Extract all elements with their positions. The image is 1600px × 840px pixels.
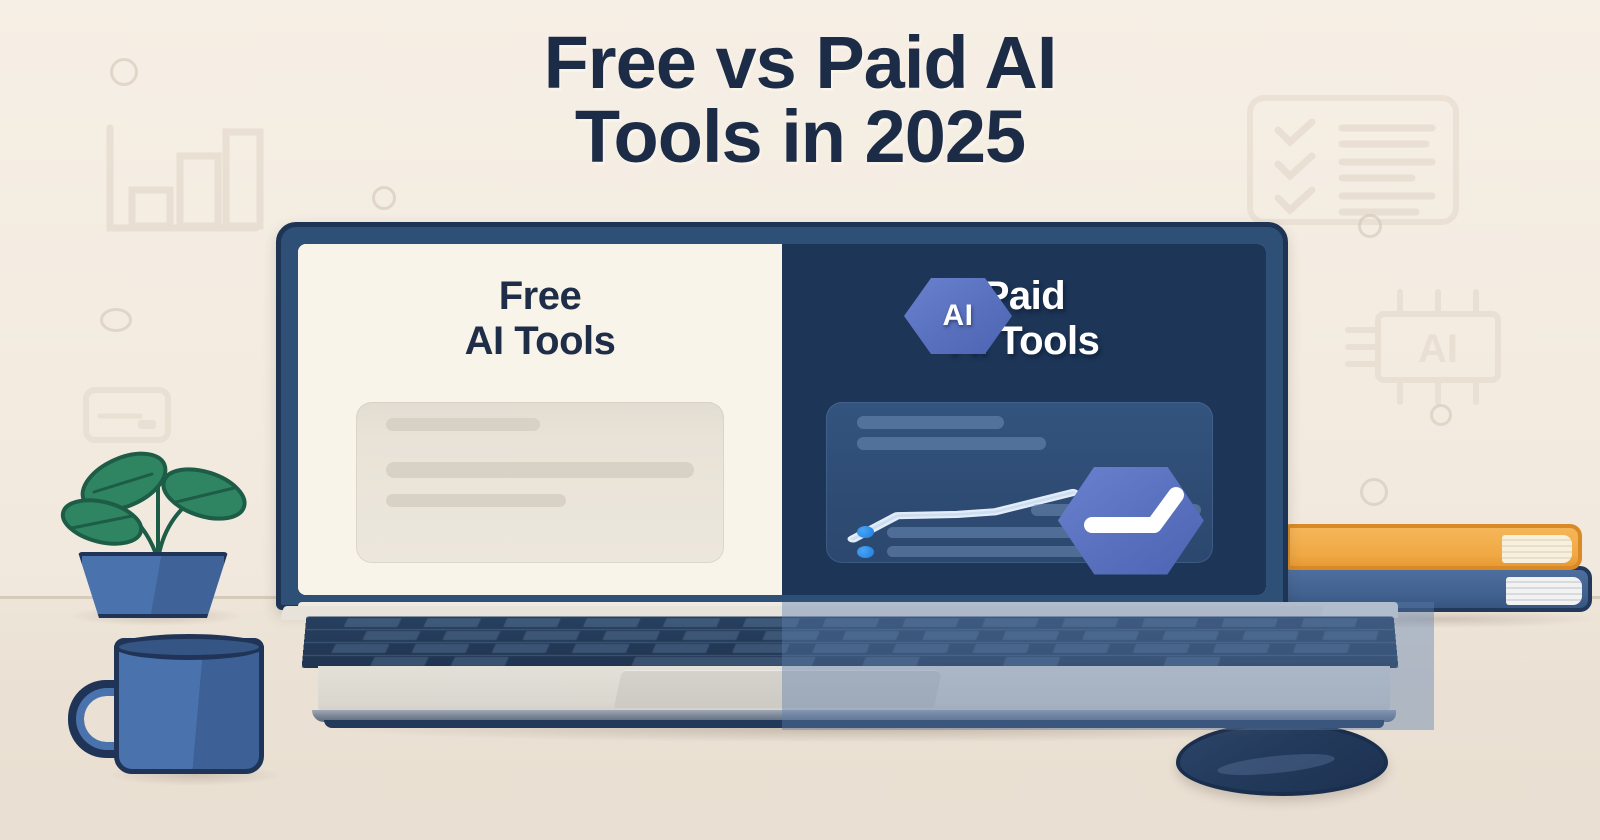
page-title: Free vs Paid AI Tools in 2025: [0, 26, 1600, 174]
laptop-shadow: [338, 728, 1378, 742]
laptop-lid: Free AI Tools Paid AI Tools: [276, 222, 1288, 610]
book-blue-pages: [1506, 577, 1582, 605]
free-panel-card: [356, 402, 724, 563]
book-orange-pages: [1502, 535, 1572, 563]
ai-hexagon-label: AI: [943, 299, 974, 333]
paid-card-bar-header: [857, 416, 1004, 429]
mouse-highlight: [1216, 750, 1335, 779]
free-card-bar-short: [386, 494, 566, 507]
paid-panel-title-line-1: Paid: [782, 274, 1266, 319]
laptop: Free AI Tools Paid AI Tools: [276, 222, 1426, 742]
paid-bullet-dot-1: [857, 526, 874, 538]
laptop-palm-rest: [318, 666, 1390, 712]
illustration-canvas: AI Free vs Paid AI Tools in 2025: [0, 0, 1600, 840]
laptop-keyboard[interactable]: [302, 616, 1399, 668]
page-title-line-2: Tools in 2025: [0, 100, 1600, 174]
check-hexagon-shape: [1058, 467, 1204, 575]
laptop-base: [268, 602, 1434, 732]
plant-leaves: [58, 448, 258, 566]
paid-panel-card: [826, 402, 1213, 563]
check-icon: [1058, 467, 1204, 575]
screen-panel-paid: Paid AI Tools AI: [782, 244, 1266, 595]
check-hexagon-badge: [1058, 467, 1204, 575]
potted-plant: [58, 448, 258, 618]
circle-decor-3: [100, 308, 132, 332]
paid-bullet-dot-2: [857, 546, 874, 558]
page-title-line-1: Free vs Paid AI: [0, 26, 1600, 100]
free-panel-title-line-2: AI Tools: [298, 319, 782, 364]
circle-decor-6: [1430, 404, 1452, 426]
laptop-trackpad[interactable]: [614, 670, 942, 708]
free-panel-title: Free AI Tools: [298, 274, 782, 364]
ai-hexagon-shape: AI: [904, 278, 1012, 354]
ai-hexagon-badge: AI: [904, 278, 1012, 354]
free-card-bar-header: [386, 418, 540, 431]
circle-decor-2: [372, 186, 396, 210]
card-watermark: [82, 386, 172, 444]
laptop-screen: Free AI Tools Paid AI Tools: [298, 244, 1266, 595]
free-card-bar-long: [386, 462, 695, 478]
plant-pot: [78, 552, 228, 618]
laptop-base-lip-lower: [324, 720, 1384, 728]
coffee-mug: [66, 632, 272, 780]
paid-panel-title: Paid AI Tools: [782, 274, 1266, 364]
screen-panel-free: Free AI Tools: [298, 244, 782, 595]
free-panel-title-line-1: Free: [298, 274, 782, 319]
paid-card-bar-sub: [857, 437, 1047, 450]
paid-panel-title-line-2: AI Tools: [782, 319, 1266, 364]
mug-rim: [114, 634, 264, 660]
